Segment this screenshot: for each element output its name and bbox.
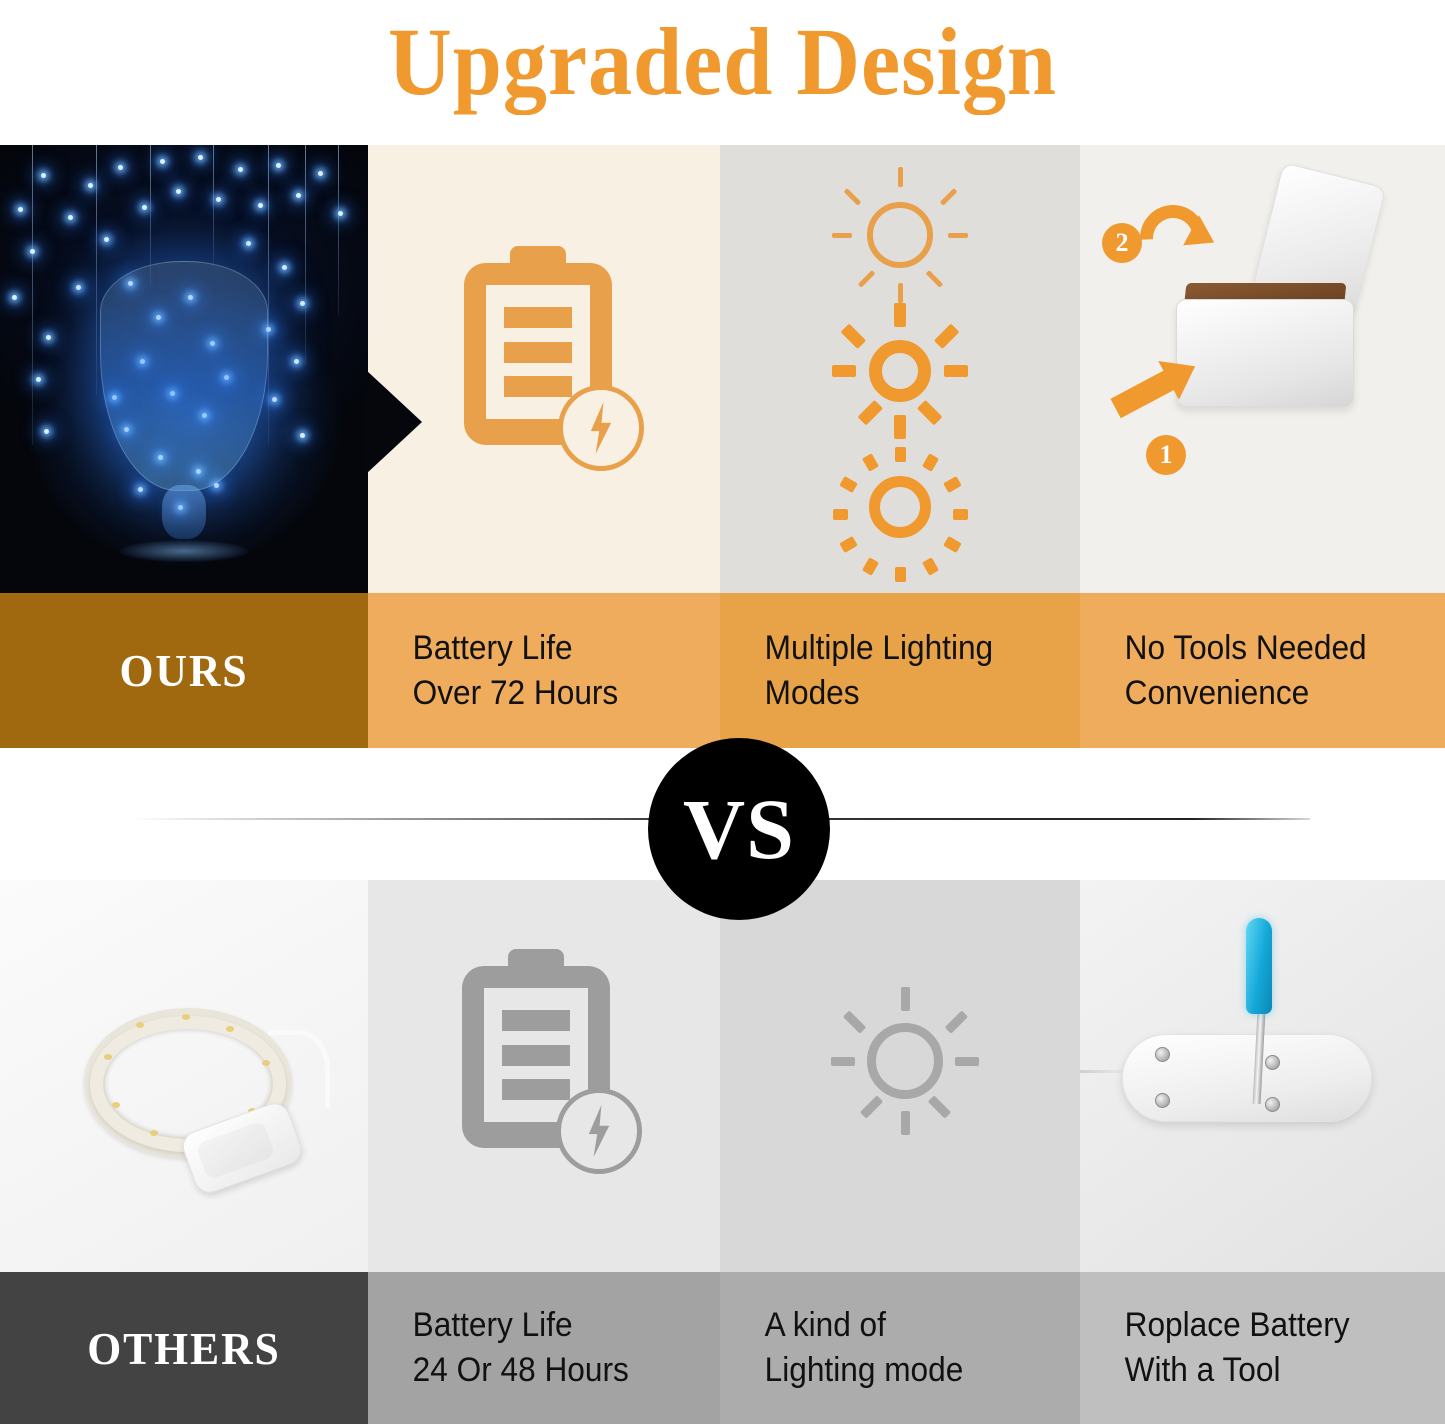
vs-badge: VS [648, 738, 830, 920]
others-modes-caption-line1: A kind of [765, 1303, 1046, 1348]
step-badge-one: 1 [1146, 435, 1186, 475]
others-feature-cell-battery: Battery Life 24 Or 48 Hours [368, 1272, 720, 1424]
ours-tools-caption-line2: Convenience [1125, 671, 1411, 716]
others-brand-cell: OTHERS [0, 1272, 368, 1424]
battery-bolt-icon-gray [462, 966, 610, 1148]
ours-modes-caption-line2: Modes [765, 671, 1046, 716]
glass-vase-stem [162, 485, 206, 539]
others-brand-label: OTHERS [9, 1272, 359, 1424]
straight-arrow-icon [1110, 370, 1175, 419]
battery-bolt-icon [464, 263, 612, 445]
others-label-row: OTHERS Battery Life 24 Or 48 Hours A kin… [0, 1272, 1445, 1424]
others-media-row [0, 880, 1445, 1272]
ours-battery-caption-line2: Over 72 Hours [413, 671, 686, 716]
page-title: Upgraded Design [58, 2, 1387, 122]
photo-pointer-arrow-icon [366, 370, 422, 474]
ours-product-photo [0, 145, 368, 593]
ours-brand-label: OURS [9, 593, 359, 748]
ours-feature-cell-battery: Battery Life Over 72 Hours [368, 593, 720, 748]
ours-brand-cell: OURS [0, 593, 368, 748]
screwdriver-battery-pack-image [1080, 880, 1445, 1272]
lightning-bolt-icon-gray [556, 1088, 642, 1174]
step-badge-two: 2 [1102, 223, 1142, 263]
wire-lead [268, 1030, 330, 1108]
others-tools-caption-line1: Roplace Battery [1125, 1303, 1411, 1348]
others-feature-cell-tools: Roplace Battery With a Tool [1080, 1272, 1445, 1424]
others-tool-panel [1080, 880, 1445, 1272]
ours-feature-cell-modes: Multiple Lighting Modes [720, 593, 1080, 748]
others-feature-cell-modes: A kind of Lighting mode [720, 1272, 1080, 1424]
sun-icon-mode-2 [832, 303, 968, 439]
sun-icon-mode-3 [832, 439, 968, 575]
others-lighting-mode-panel [720, 880, 1080, 1272]
ours-media-row: 2 1 [0, 145, 1445, 593]
others-battery-icon-panel [368, 880, 720, 1272]
sun-icon-gray [832, 988, 978, 1134]
ours-tools-caption-line1: No Tools Needed [1125, 626, 1411, 671]
ours-lighting-modes-panel [720, 145, 1080, 593]
lightning-bolt-icon [558, 385, 644, 471]
ours-battery-caption-line1: Battery Life [413, 626, 686, 671]
others-battery-caption-line2: 24 Or 48 Hours [413, 1348, 686, 1393]
others-tools-caption-line2: With a Tool [1125, 1348, 1411, 1393]
battery-box-open-lid-image: 2 1 [1080, 145, 1445, 593]
ours-modes-caption-line1: Multiple Lighting [765, 626, 1046, 671]
fairy-lights-vase-image [0, 145, 368, 593]
coiled-string-lights-image [0, 880, 368, 1272]
ours-feature-cell-tools: No Tools Needed Convenience [1080, 593, 1445, 748]
others-modes-caption-line2: Lighting mode [765, 1348, 1046, 1393]
others-battery-caption-line1: Battery Life [413, 1303, 686, 1348]
others-product-photo [0, 880, 368, 1272]
ours-battery-box-panel: 2 1 [1080, 145, 1445, 593]
ours-label-row: OURS Battery Life Over 72 Hours Multiple… [0, 593, 1445, 748]
sun-icon-mode-1 [832, 167, 968, 303]
ours-battery-icon-panel [368, 145, 720, 593]
others-battery-case [1122, 1034, 1372, 1122]
glass-vase-foot [120, 540, 248, 562]
battery-box-base [1176, 299, 1354, 407]
infographic-canvas: Upgraded Design [0, 0, 1445, 1428]
screwdriver-handle [1246, 918, 1272, 1014]
